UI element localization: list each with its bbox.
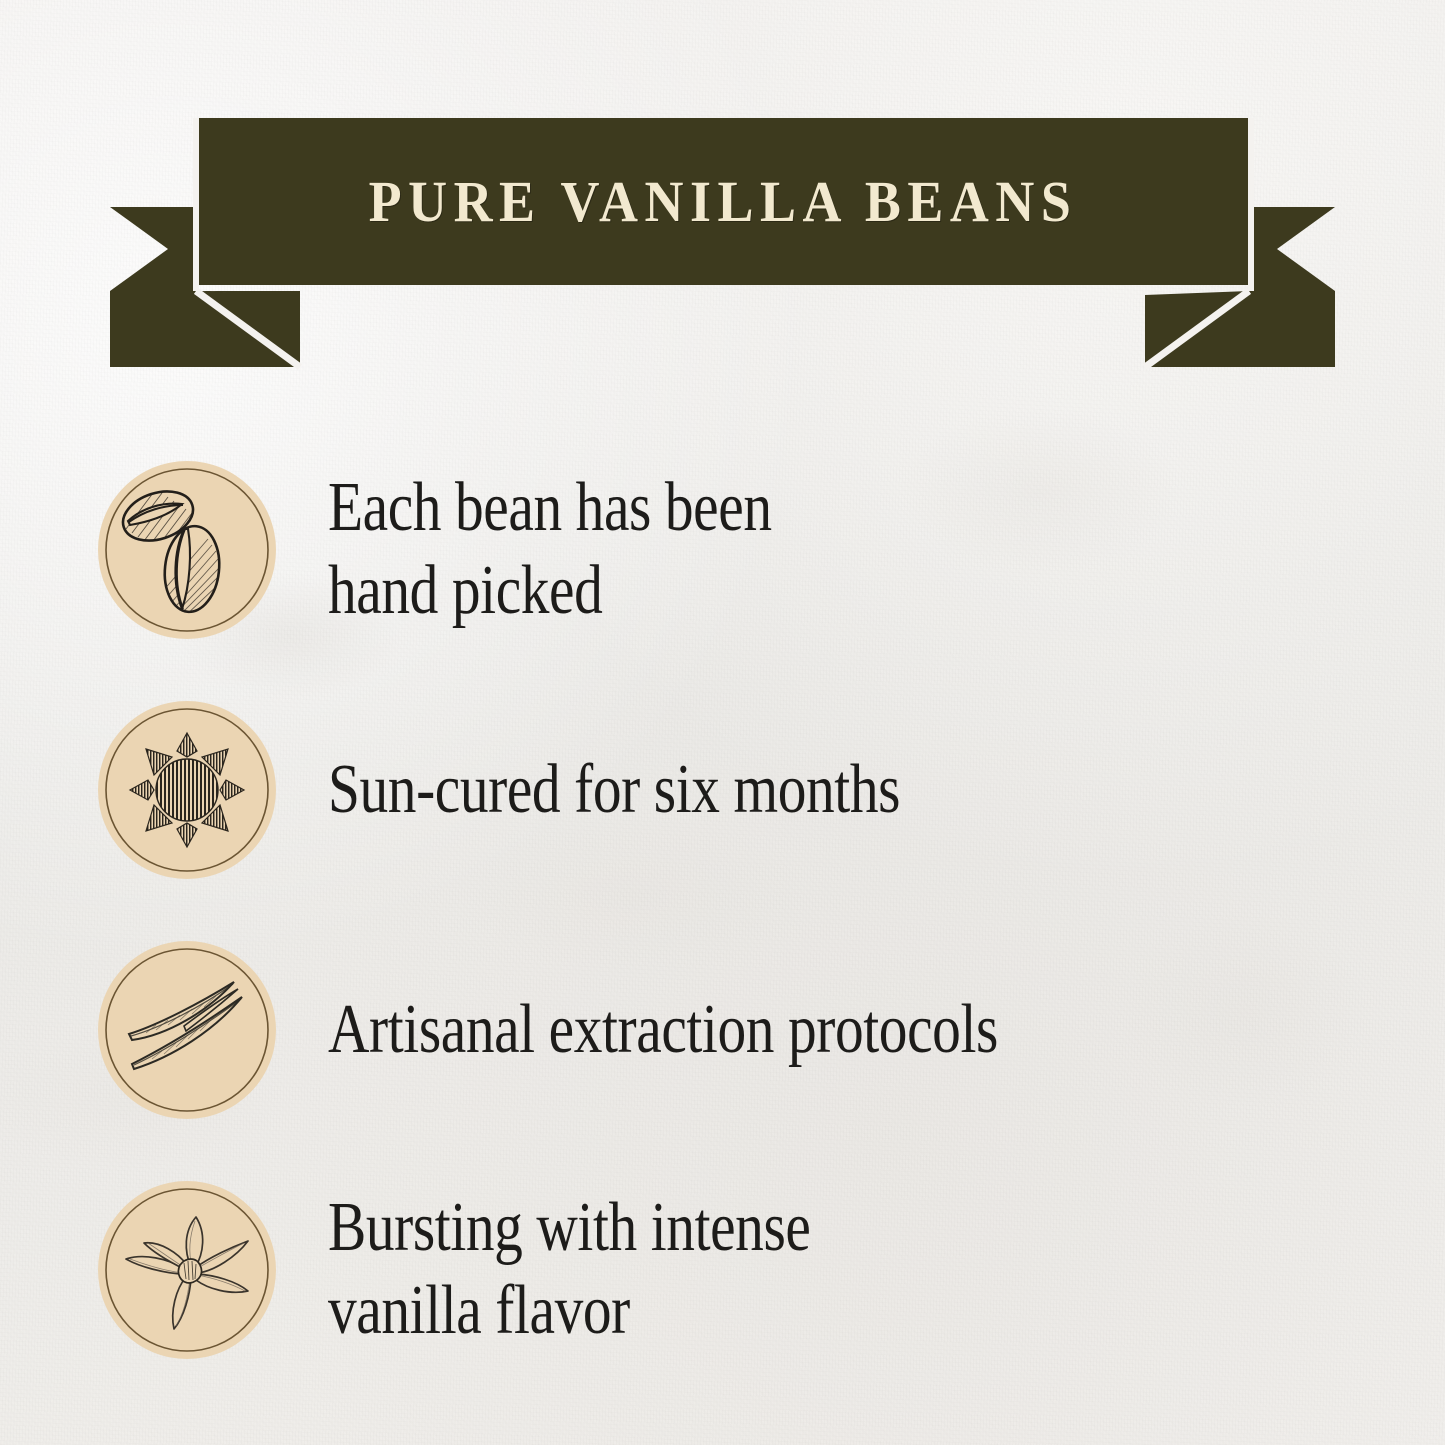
vanilla-beans-icon <box>96 459 278 641</box>
feature-text: Bursting with intense vanilla flavor <box>328 1187 810 1352</box>
feature-list: Each bean has been hand picked <box>0 430 1445 1390</box>
ribbon-banner: PURE VANILLA BEANS <box>0 0 1445 400</box>
vanilla-pods-icon <box>96 939 278 1121</box>
feature-row: Artisanal extraction protocols <box>0 910 1445 1150</box>
feature-row: Bursting with intense vanilla flavor <box>0 1150 1445 1390</box>
ribbon-tail-right-lower <box>1145 291 1335 367</box>
feature-row: Each bean has been hand picked <box>0 430 1445 670</box>
ribbon-tail-left-lower <box>110 291 300 367</box>
sun-icon <box>96 699 278 881</box>
product-feature-infographic: PURE VANILLA BEANS <box>0 0 1445 1445</box>
ribbon-tail-left-upper <box>110 207 196 291</box>
feature-text: Each bean has been hand picked <box>328 467 772 632</box>
feature-row: Sun-cured for six months <box>0 670 1445 910</box>
vanilla-flower-icon <box>96 1179 278 1361</box>
page-title: PURE VANILLA BEANS <box>235 118 1212 285</box>
feature-text: Artisanal extraction protocols <box>328 989 998 1072</box>
ribbon-tail-right-upper <box>1249 207 1335 291</box>
feature-text: Sun-cured for six months <box>328 749 900 832</box>
